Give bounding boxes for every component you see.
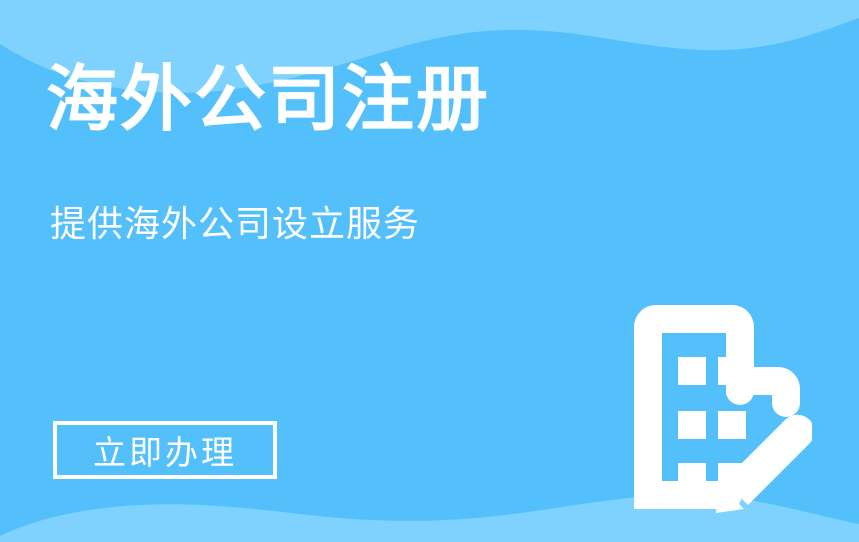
apply-now-button[interactable]: 立即办理 (53, 421, 277, 479)
page-title: 海外公司注册 (46, 64, 490, 136)
promo-banner: 海外公司注册 提供海外公司设立服务 立即办理 (0, 0, 859, 542)
page-subtitle: 提供海外公司设立服务 (50, 206, 420, 242)
banner-content: 海外公司注册 提供海外公司设立服务 立即办理 (0, 0, 859, 542)
building-edit-icon (612, 305, 812, 515)
